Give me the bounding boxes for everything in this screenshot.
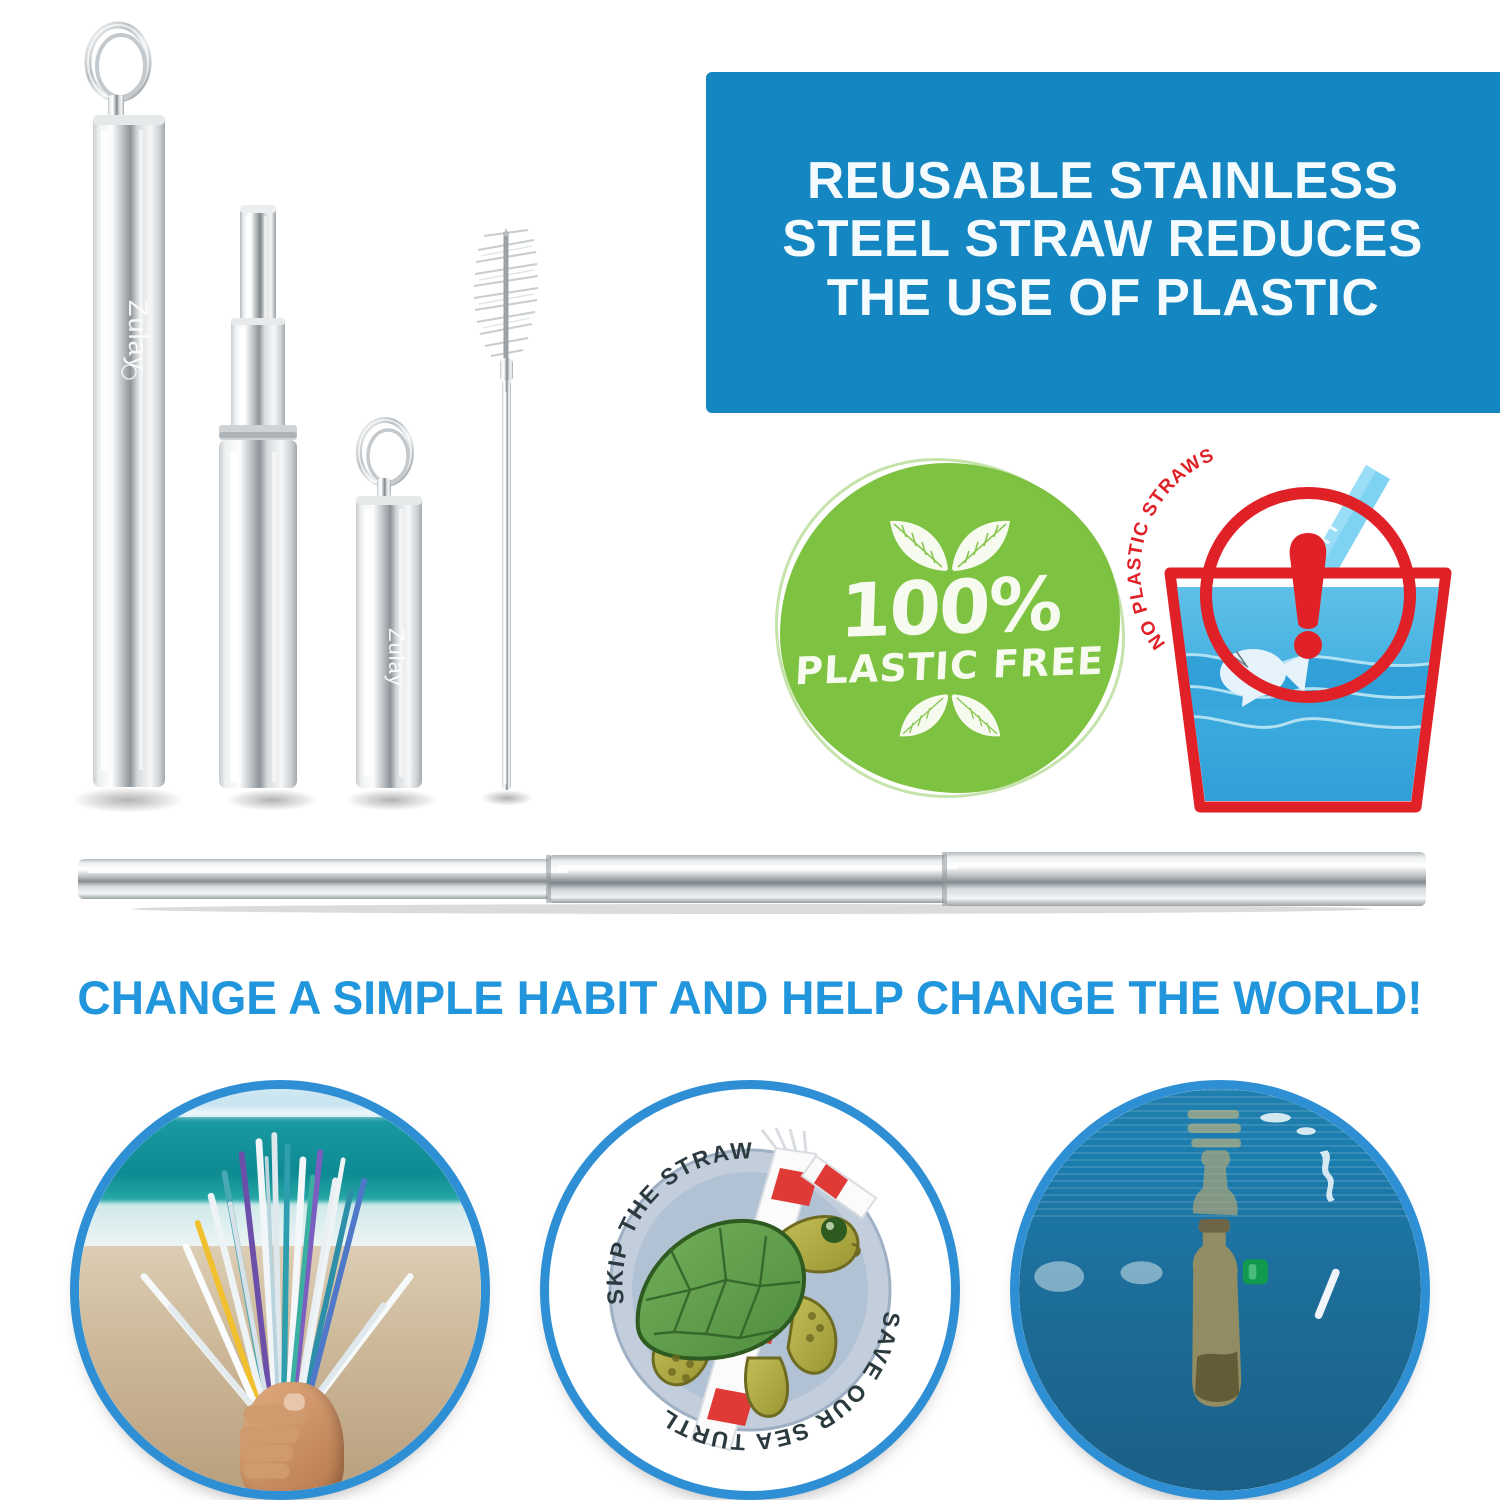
key-ring-icon [359, 420, 411, 484]
headline-line-1: REUSABLE STAINLESS [807, 152, 1398, 210]
telescopic-straw-case-short: Zulay [345, 420, 437, 811]
poster-stage: Zulay [0, 0, 1500, 1500]
headline-banner: REUSABLE STAINLESS STEEL STRAW REDUCES T… [706, 72, 1500, 413]
skip-the-straw-turtle-badge: SKIP THE STRAW SAVE OUR SEA TURTLES [549, 1089, 951, 1491]
cleaning-brush-icon [474, 228, 538, 806]
circle-frame: SKIP THE STRAW SAVE OUR SEA TURTLES [540, 1080, 960, 1500]
floating-debris [1019, 1089, 1421, 1491]
no-plastic-straws-badge: NO PLASTIC STRAWS [1158, 445, 1458, 815]
leaf-pair-icon [892, 691, 1008, 743]
straw-fully-extended [78, 845, 1426, 915]
bottle-reflection [1187, 1110, 1241, 1215]
plastic-bottle-icon [1192, 1219, 1241, 1407]
circle-frame [1010, 1080, 1430, 1500]
circle-card-beach-straws[interactable] [70, 1080, 490, 1500]
telescopic-straw-case-tall: Zulay [72, 25, 184, 813]
svg-text:Zulay: Zulay [384, 628, 409, 687]
headline-line-3: THE USE OF PLASTIC [827, 269, 1379, 327]
svg-text:Zulay: Zulay [123, 300, 153, 371]
subheadline: CHANGE A SIMPLE HABIT AND HELP CHANGE TH… [15, 970, 1485, 1025]
telescoping-steel-straw-icon [219, 205, 318, 811]
circle-card-turtle-badge[interactable]: SKIP THE STRAW SAVE OUR SEA TURTLES [540, 1080, 960, 1500]
beach-plastic-straws-photo [79, 1089, 481, 1491]
headline-line-2: STEEL STRAW REDUCES [783, 210, 1424, 268]
circle-frame [70, 1080, 490, 1500]
badge-content: 100% PLASTIC FREE [780, 463, 1120, 793]
underwater-plastic-bottle-photo [1019, 1089, 1421, 1491]
product-photo-group: Zulay [0, 0, 700, 830]
key-ring-icon [88, 25, 148, 99]
badge-label: PLASTIC FREE [795, 642, 1106, 691]
badge-percent: 100% [839, 569, 1062, 647]
circle-card-underwater-bottle[interactable] [1010, 1080, 1430, 1500]
plastic-free-badge: 100% PLASTIC FREE [780, 463, 1120, 793]
hand-fingers [79, 1089, 481, 1491]
benefit-circle-row: SKIP THE STRAW SAVE OUR SEA TURTLES [0, 1080, 1500, 1500]
